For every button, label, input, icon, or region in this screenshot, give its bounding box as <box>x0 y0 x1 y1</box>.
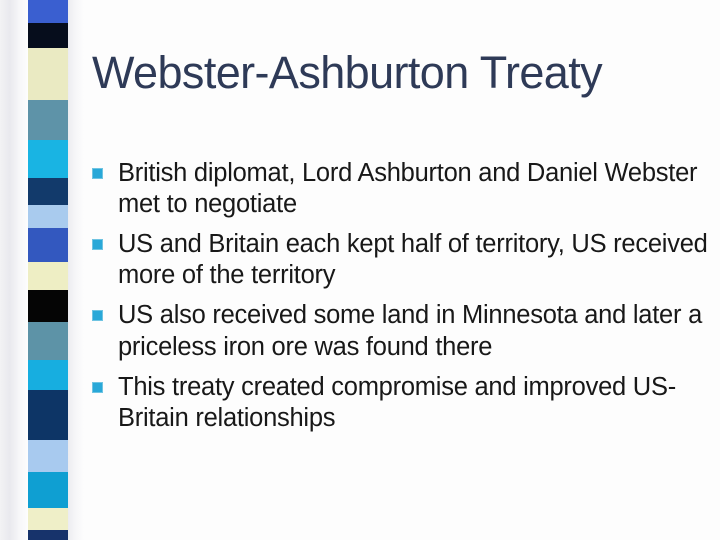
color-band <box>28 100 68 140</box>
color-band <box>28 322 68 360</box>
list-item: US also received some land in Minnesota … <box>92 300 710 362</box>
left-color-strip <box>28 0 68 540</box>
list-item: This treaty created compromise and impro… <box>92 372 710 434</box>
color-band <box>28 472 68 508</box>
left-color-strip-edge-shadow <box>68 0 84 540</box>
square-bullet-icon <box>92 310 103 321</box>
color-band <box>28 140 68 178</box>
color-band <box>28 290 68 322</box>
list-item: US and Britain each kept half of territo… <box>92 229 710 291</box>
square-bullet-icon <box>92 382 103 393</box>
bullet-text: US and Britain each kept half of territo… <box>118 229 710 291</box>
color-band <box>28 178 68 205</box>
square-bullet-icon <box>92 239 103 250</box>
color-band <box>28 508 68 530</box>
square-bullet-icon <box>92 168 103 179</box>
bullet-text: British diplomat, Lord Ashburton and Dan… <box>118 158 710 220</box>
color-band <box>28 205 68 228</box>
color-band <box>28 262 68 290</box>
list-item: British diplomat, Lord Ashburton and Dan… <box>92 158 710 220</box>
slide-canvas: Webster-Ashburton Treaty British diploma… <box>0 0 720 540</box>
color-band <box>28 23 68 48</box>
color-band <box>28 0 68 23</box>
slide-body-bullet-list: British diplomat, Lord Ashburton and Dan… <box>92 158 710 443</box>
color-band <box>28 530 68 540</box>
slide-left-margin <box>0 0 28 540</box>
bullet-text: US also received some land in Minnesota … <box>118 300 710 362</box>
slide-title: Webster-Ashburton Treaty <box>92 48 692 98</box>
color-band <box>28 440 68 472</box>
color-band <box>28 390 68 440</box>
color-band <box>28 228 68 262</box>
bullet-text: This treaty created compromise and impro… <box>118 372 710 434</box>
color-band <box>28 360 68 390</box>
color-band <box>28 48 68 100</box>
